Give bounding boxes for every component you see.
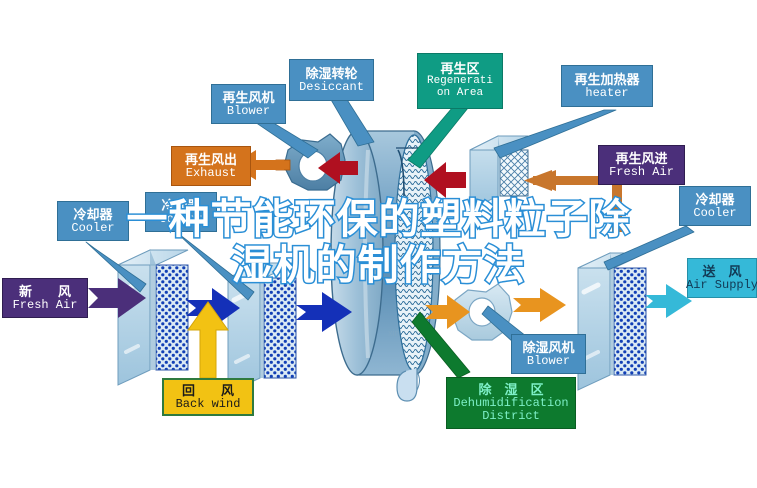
label-back-wind-en: Back wind: [176, 398, 241, 411]
title-line-2: 湿机的制作方法: [0, 242, 757, 288]
title-line-1: 一种节能环保的塑料粒子除: [0, 196, 757, 242]
label-dehum-blower-cn: 除湿风机: [522, 341, 574, 355]
svg-text:xin: xin: [388, 328, 400, 338]
label-regen-blower-cn: 再生风机: [222, 91, 274, 105]
title-watermark: 一种节能环保的塑料粒子除 湿机的制作方法: [0, 196, 757, 288]
label-dehum-blower[interactable]: 除湿风机 Blower: [511, 334, 586, 374]
dehum-out-arrow-2: [513, 288, 566, 322]
label-regen-heater-en: heater: [585, 87, 628, 100]
dehumidifier-schematic-diagram: xin: [0, 0, 757, 488]
label-regen-air-inlet-cn: 再生风进: [615, 152, 667, 166]
label-dehumidification-district-cn: 除 湿 区: [478, 383, 543, 397]
regen-inlet-arrow: [524, 170, 556, 191]
supply-arrow: [645, 284, 692, 318]
label-regen-air-inlet[interactable]: 再生风进 Fresh Air: [598, 145, 685, 185]
label-dehum-blower-en: Blower: [527, 355, 570, 368]
label-desiccant-wheel-cn: 除湿转轮: [305, 67, 357, 81]
label-regen-air-inlet-en: Fresh Air: [609, 166, 674, 179]
label-regen-heater[interactable]: 再生加热器 heater: [561, 65, 653, 107]
label-regen-air-exhaust-en: Exhaust: [186, 167, 236, 180]
label-back-wind[interactable]: 回 风 Back wind: [162, 378, 254, 416]
label-regeneration-area-cn: 再生区: [440, 62, 479, 76]
label-regeneration-area-en2: on Area: [437, 88, 483, 100]
label-regen-air-exhaust[interactable]: 再生风出 Exhaust: [171, 146, 251, 186]
label-regen-blower-en: Blower: [227, 105, 270, 118]
label-dehumidification-district[interactable]: 除 湿 区 Dehumidification District: [446, 377, 576, 429]
label-regen-heater-cn: 再生加热器: [574, 73, 639, 87]
label-regeneration-area[interactable]: 再生区 Regenerati on Area: [417, 53, 503, 109]
label-regen-air-exhaust-cn: 再生风出: [185, 153, 237, 167]
label-desiccant-wheel-en: Desiccant: [299, 81, 364, 94]
label-dehumidification-district-en2: District: [482, 410, 540, 423]
label-regen-blower[interactable]: 再生风机 Blower: [211, 84, 286, 124]
label-desiccant-wheel[interactable]: 除湿转轮 Desiccant: [289, 59, 374, 101]
label-back-wind-cn: 回 风: [182, 384, 234, 398]
label-fresh-air-inlet-en: Fresh Air: [13, 299, 78, 312]
label-dehumidification-district-en1: Dehumidification: [453, 397, 568, 410]
